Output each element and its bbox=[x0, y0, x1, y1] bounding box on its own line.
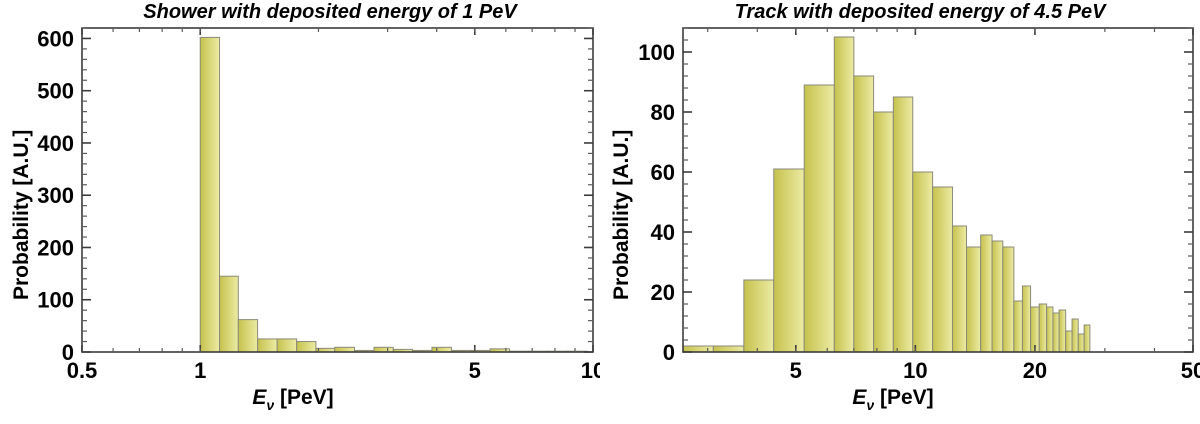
chart-panel-track: Track with deposited energy of 4.5 PeV P… bbox=[600, 0, 1200, 424]
x-axis-label-unit: [PeV] bbox=[880, 386, 934, 409]
figure-root: Shower with deposited energy of 1 PeV Pr… bbox=[0, 0, 1200, 424]
y-tick-label: 600 bbox=[37, 26, 74, 51]
y-tick-label: 400 bbox=[37, 131, 74, 156]
y-tick-label: 100 bbox=[638, 40, 675, 65]
histogram-bar bbox=[834, 37, 854, 352]
histogram-bar bbox=[297, 342, 316, 352]
histogram-bar bbox=[774, 169, 804, 352]
histogram-bar bbox=[854, 76, 874, 352]
x-tick-label: 50 bbox=[1181, 358, 1200, 383]
histogram-bar bbox=[1084, 325, 1090, 352]
x-axis-label-base: E bbox=[852, 386, 867, 409]
shower-plot-area: 0.515100100200300400500600 bbox=[37, 26, 600, 383]
histogram-bar bbox=[893, 97, 912, 352]
histogram-bar bbox=[258, 339, 278, 352]
histogram-bar bbox=[1014, 301, 1023, 352]
histogram-bar bbox=[1059, 310, 1066, 352]
x-tick-label: 10 bbox=[903, 358, 927, 383]
histogram-bar bbox=[220, 276, 239, 352]
x-tick-label: 20 bbox=[1023, 358, 1047, 383]
x-axis-label-unit: [PeV] bbox=[280, 386, 334, 409]
svg-text:Eν [PeV]: Eν [PeV] bbox=[852, 386, 933, 413]
plot-frame bbox=[82, 28, 593, 352]
x-axis-label-sub: ν bbox=[266, 397, 274, 413]
histogram-bar bbox=[1039, 304, 1046, 352]
histogram-bar bbox=[200, 37, 219, 352]
x-tick-label: 10 bbox=[581, 358, 600, 383]
svg-text:Eν [PeV]: Eν [PeV] bbox=[252, 386, 333, 413]
y-tick-label: 60 bbox=[651, 160, 675, 185]
histogram-bar bbox=[238, 320, 257, 352]
histogram-bar bbox=[933, 187, 953, 352]
y-tick-label: 20 bbox=[651, 280, 675, 305]
histogram-bar bbox=[713, 346, 744, 352]
y-tick-label: 300 bbox=[37, 183, 74, 208]
x-axis-label-sub: ν bbox=[866, 397, 874, 413]
y-tick-label: 500 bbox=[37, 79, 74, 104]
histogram-bar bbox=[981, 235, 992, 352]
y-axis-label-shower: Probability [A.U.] bbox=[10, 130, 33, 300]
x-axis-label-base: E bbox=[252, 386, 267, 409]
histogram-bar bbox=[952, 226, 966, 352]
y-tick-label: 40 bbox=[651, 220, 675, 245]
y-tick-label: 0 bbox=[62, 340, 74, 365]
shower-histogram-svg: Shower with deposited energy of 1 PeV Pr… bbox=[0, 0, 600, 424]
histogram-bar bbox=[1078, 334, 1084, 352]
x-axis-label-track: Eν [PeV] bbox=[852, 386, 933, 413]
track-plot-area: 5102050020406080100 bbox=[638, 28, 1200, 383]
y-tick-label: 0 bbox=[663, 340, 675, 365]
chart-panel-shower: Shower with deposited energy of 1 PeV Pr… bbox=[0, 0, 600, 424]
y-tick-label: 200 bbox=[37, 235, 74, 260]
histogram-bar bbox=[1072, 319, 1078, 352]
y-tick-label: 80 bbox=[651, 100, 675, 125]
histogram-bar bbox=[744, 280, 774, 352]
histogram-bar bbox=[913, 172, 933, 352]
histogram-bar bbox=[804, 85, 834, 352]
histogram-bars bbox=[200, 37, 587, 352]
x-axis-label-shower: Eν [PeV] bbox=[252, 386, 333, 413]
histogram-bar bbox=[874, 112, 894, 352]
histogram-bar bbox=[277, 339, 296, 352]
chart-title-track: Track with deposited energy of 4.5 PeV bbox=[735, 1, 1108, 23]
x-tick-label: 5 bbox=[469, 358, 481, 383]
histogram-bar bbox=[992, 241, 1003, 352]
x-axis-ticks: 0.51510 bbox=[67, 28, 600, 383]
histogram-bar bbox=[1003, 247, 1014, 352]
x-tick-label: 5 bbox=[790, 358, 802, 383]
histogram-bar bbox=[683, 346, 713, 352]
histogram-bar bbox=[966, 247, 980, 352]
histogram-bar bbox=[1053, 313, 1059, 352]
histogram-bars bbox=[683, 37, 1090, 352]
histogram-bar bbox=[1066, 331, 1072, 352]
y-axis-ticks: 0100200300400500600 bbox=[37, 26, 593, 365]
y-tick-label: 100 bbox=[37, 288, 74, 313]
y-axis-label-track: Probability [A.U.] bbox=[610, 130, 633, 300]
x-tick-label: 1 bbox=[194, 358, 206, 383]
chart-title-shower: Shower with deposited energy of 1 PeV bbox=[143, 1, 518, 23]
histogram-bar bbox=[1047, 307, 1053, 352]
track-histogram-svg: Track with deposited energy of 4.5 PeV P… bbox=[600, 0, 1200, 424]
histogram-bar bbox=[1022, 286, 1030, 352]
